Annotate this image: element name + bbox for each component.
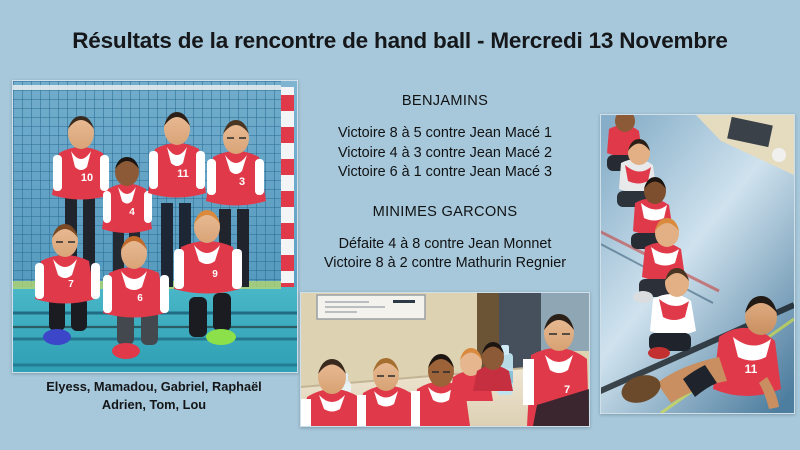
benjamins-heading: BENJAMINS [300, 92, 590, 111]
match-results-block: BENJAMINS Victoire 8 à 5 contre Jean Mac… [300, 92, 590, 274]
svg-text:9: 9 [212, 269, 218, 280]
caption-line-2: Adrien, Tom, Lou [12, 396, 296, 414]
spacer [300, 182, 590, 203]
team-names-caption: Elyess, Mamadou, Gabriel, Raphaël Adrien… [12, 378, 296, 414]
spacer [300, 222, 590, 235]
svg-text:7: 7 [68, 279, 74, 290]
minimes-results-list: Défaite 4 à 8 contre Jean Monnet Victoir… [300, 235, 590, 273]
result-line: Victoire 8 à 5 contre Jean Macé 1 [300, 124, 590, 143]
result-line: Victoire 8 à 2 contre Mathurin Regnier [300, 254, 590, 273]
players-seated-at-table-photo: 7 [300, 292, 590, 427]
caption-line-1: Elyess, Mamadou, Gabriel, Raphaël [12, 378, 296, 396]
svg-text:6: 6 [137, 293, 143, 304]
benjamins-results-list: Victoire 8 à 5 contre Jean Macé 1 Victoi… [300, 124, 590, 181]
svg-text:11: 11 [745, 362, 758, 376]
floor-photo-illustration: 11 [601, 115, 794, 413]
minimes-garcons-heading: MINIMES GARCONS [300, 203, 590, 222]
svg-text:11: 11 [177, 168, 189, 180]
goal-post [281, 87, 294, 297]
svg-text:10: 10 [81, 172, 93, 184]
page-title: Résultats de la rencontre de hand ball -… [0, 28, 800, 54]
result-line: Victoire 4 à 3 contre Jean Macé 2 [300, 144, 590, 163]
svg-text:7: 7 [564, 384, 570, 396]
table-photo-illustration: 7 [301, 293, 589, 426]
players-resting-on-gym-floor-photo: 11 [600, 114, 795, 414]
svg-text:4: 4 [129, 207, 135, 218]
result-line: Victoire 6 à 1 contre Jean Macé 3 [300, 163, 590, 182]
svg-text:3: 3 [239, 176, 245, 188]
team-photo-illustration: 10 4 11 [13, 81, 297, 372]
team-photo-in-front-of-goal: 10 4 11 [12, 80, 298, 373]
result-line: Défaite 4 à 8 contre Jean Monnet [300, 235, 590, 254]
slide-canvas: Résultats de la rencontre de hand ball -… [0, 0, 800, 450]
spacer [300, 111, 590, 124]
